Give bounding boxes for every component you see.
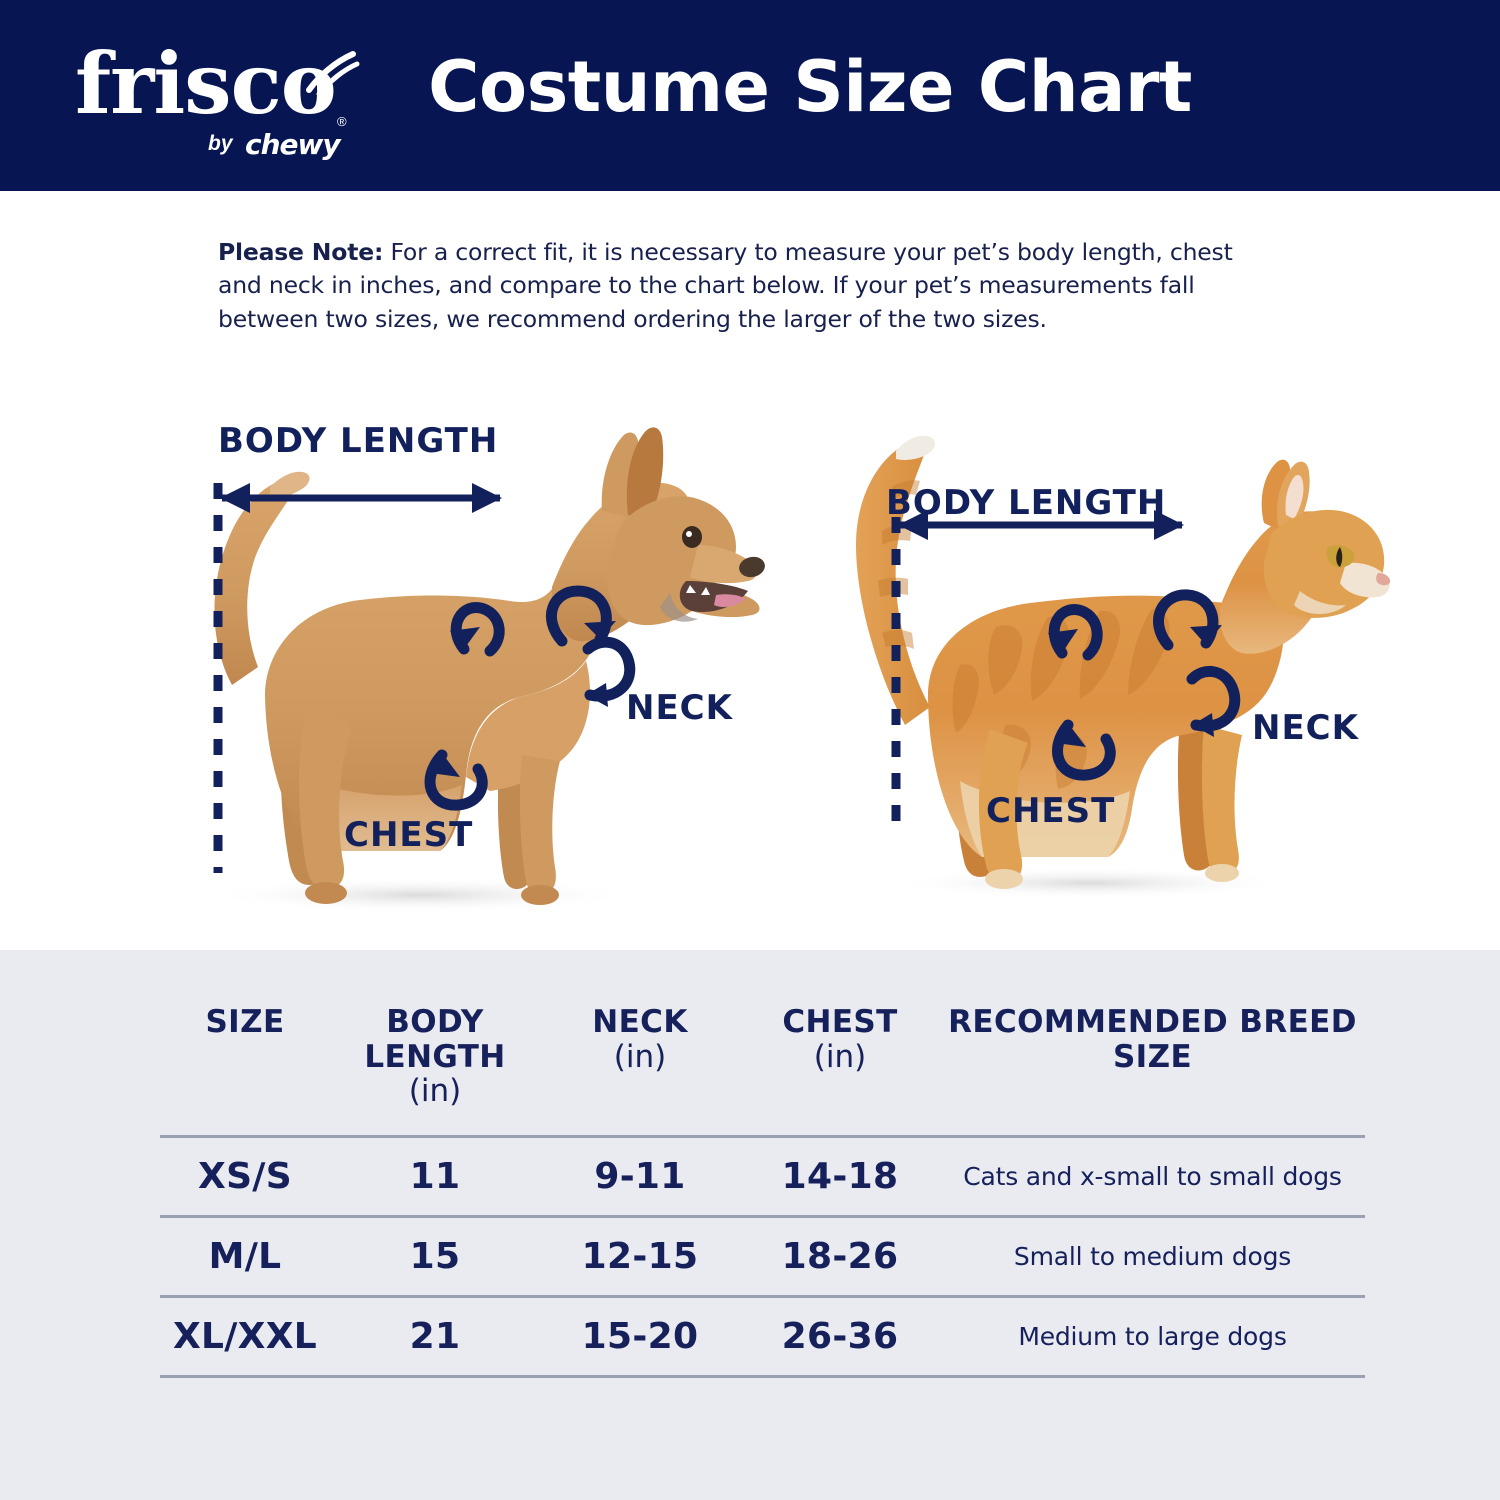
cat-front-paw (1205, 864, 1239, 882)
dog-neck-label: NECK (626, 688, 733, 728)
cat-tail-tip (896, 436, 935, 460)
dog-eye (682, 526, 702, 548)
cell-body-length: 15 (330, 1217, 540, 1297)
cell-chest: 18-26 (740, 1217, 940, 1297)
column-header-chest-label: CHEST (782, 1004, 897, 1040)
column-header-neck-label: NECK (592, 1004, 688, 1040)
measurement-illustrations: BODY LENGTH NECK CHEST (0, 395, 1500, 950)
cell-neck: 9-11 (540, 1137, 740, 1217)
logo-by-text: by (208, 132, 233, 156)
cell-size: XL/XXL (160, 1297, 330, 1377)
dog-body-length-label: BODY LENGTH (218, 421, 498, 461)
column-header-size: SIZE (160, 1005, 330, 1137)
dog-illustration: BODY LENGTH NECK CHEST (170, 395, 780, 950)
table-row: XS/S 11 9-11 14-18 Cats and x-small to s… (160, 1137, 1365, 1217)
column-header-breed-label: RECOMMENDED BREED SIZE (948, 1004, 1357, 1075)
column-header-chest: CHEST (in) (740, 1005, 940, 1137)
table-body: XS/S 11 9-11 14-18 Cats and x-small to s… (160, 1137, 1365, 1377)
column-header-size-label: SIZE (205, 1004, 284, 1040)
cell-body-length: 21 (330, 1297, 540, 1377)
column-header-neck: NECK (in) (540, 1005, 740, 1137)
cat-neck-label: NECK (1252, 708, 1359, 748)
cell-neck: 12-15 (540, 1217, 740, 1297)
table-row: M/L 15 12-15 18-26 Small to medium dogs (160, 1217, 1365, 1297)
cat-head (1264, 510, 1384, 618)
size-table-section: SIZE BODY LENGTH (in) NECK (in) CHEST (i… (0, 950, 1500, 1500)
cell-size: M/L (160, 1217, 330, 1297)
dog-front-paw (521, 885, 559, 905)
logo-chewy-text: chewy (245, 128, 340, 161)
table-header-row: SIZE BODY LENGTH (in) NECK (in) CHEST (i… (160, 1005, 1365, 1137)
column-header-body-length-label: BODY LENGTH (364, 1004, 505, 1075)
cell-chest: 26-36 (740, 1297, 940, 1377)
dog-front-leg-near (520, 755, 560, 895)
cell-breed: Small to medium dogs (940, 1217, 1365, 1297)
column-header-chest-unit: (in) (814, 1039, 866, 1075)
cell-chest: 14-18 (740, 1137, 940, 1217)
table-row: XL/XXL 21 15-20 26-36 Medium to large do… (160, 1297, 1365, 1377)
cat-chest-label: CHEST (986, 791, 1115, 831)
dog-shadow (205, 877, 635, 913)
cell-breed: Medium to large dogs (940, 1297, 1365, 1377)
cell-neck: 15-20 (540, 1297, 740, 1377)
column-header-breed: RECOMMENDED BREED SIZE (940, 1005, 1365, 1137)
page-header: frisco ® by chewy Costume Size Chart (0, 0, 1500, 191)
dog-chest-label: CHEST (344, 815, 473, 855)
column-header-neck-unit: (in) (614, 1039, 666, 1075)
please-note-text: Please Note: For a correct fit, it is ne… (218, 236, 1246, 336)
cat-hind-paw (985, 869, 1023, 889)
column-header-body-length: BODY LENGTH (in) (330, 1005, 540, 1137)
size-chart-table: SIZE BODY LENGTH (in) NECK (in) CHEST (i… (160, 1005, 1365, 1378)
cell-breed: Cats and x-small to small dogs (940, 1137, 1365, 1217)
page-title: Costume Size Chart (0, 46, 1500, 128)
cat-body-length-label: BODY LENGTH (886, 483, 1166, 523)
dog-hind-paw (305, 882, 347, 904)
cell-size: XS/S (160, 1137, 330, 1217)
please-note-label: Please Note: (218, 238, 383, 266)
cat-figure (800, 395, 1400, 950)
cat-illustration: BODY LENGTH NECK CHEST (800, 395, 1400, 950)
column-header-body-length-unit: (in) (409, 1073, 461, 1109)
table-header: SIZE BODY LENGTH (in) NECK (in) CHEST (i… (160, 1005, 1365, 1137)
cat-front-leg-near (1202, 725, 1242, 874)
cell-body-length: 11 (330, 1137, 540, 1217)
dog-figure (170, 395, 780, 950)
